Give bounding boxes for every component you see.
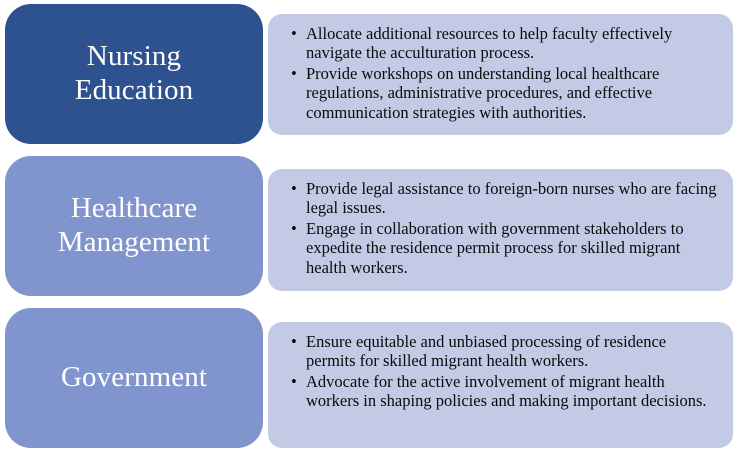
bullet-icon: • [291,179,297,198]
recommendations-diagram: Nursing Education • Allocate additional … [0,0,740,457]
bullet-icon: • [291,24,297,43]
recommendation-text: Engage in collaboration with government … [306,219,684,276]
list-item: • Allocate additional resources to help … [290,24,719,62]
recommendation-text: Provide legal assistance to foreign-born… [306,179,717,217]
stakeholder-label-government: Government [61,361,207,395]
recommendation-text: Ensure equitable and unbiased processing… [306,332,666,370]
bullet-icon: • [291,219,297,238]
bullet-icon: • [291,332,297,351]
stakeholder-box-nursing-education[interactable]: Nursing Education [5,4,263,144]
stakeholder-label-healthcare-management: Healthcare Management [58,192,210,259]
recommendation-list: • Provide legal assistance to foreign-bo… [290,179,719,277]
recommendations-panel-healthcare-management[interactable]: • Provide legal assistance to foreign-bo… [268,169,733,291]
recommendation-text: Advocate for the active involvement of m… [306,372,707,410]
recommendation-text: Allocate additional resources to help fa… [306,24,672,62]
list-item: • Provide legal assistance to foreign-bo… [290,179,719,217]
stakeholder-box-healthcare-management[interactable]: Healthcare Management [5,156,263,296]
list-item: • Provide workshops on understanding loc… [290,64,719,121]
recommendations-panel-nursing-education[interactable]: • Allocate additional resources to help … [268,14,733,135]
diagram-row-healthcare-management: Healthcare Management • Provide legal as… [0,152,740,304]
bullet-icon: • [291,372,297,391]
diagram-row-government: Government • Ensure equitable and unbias… [0,304,740,457]
bullet-icon: • [291,64,297,83]
stakeholder-label-nursing-education: Nursing Education [75,40,193,107]
list-item: • Advocate for the active involvement of… [290,372,719,410]
list-item: • Ensure equitable and unbiased processi… [290,332,719,370]
list-item: • Engage in collaboration with governmen… [290,219,719,276]
recommendations-panel-government[interactable]: • Ensure equitable and unbiased processi… [268,322,733,448]
diagram-row-nursing-education: Nursing Education • Allocate additional … [0,0,740,152]
stakeholder-box-government[interactable]: Government [5,308,263,448]
recommendation-list: • Allocate additional resources to help … [290,24,719,122]
recommendation-list: • Ensure equitable and unbiased processi… [290,332,719,411]
recommendation-text: Provide workshops on understanding local… [306,64,659,121]
